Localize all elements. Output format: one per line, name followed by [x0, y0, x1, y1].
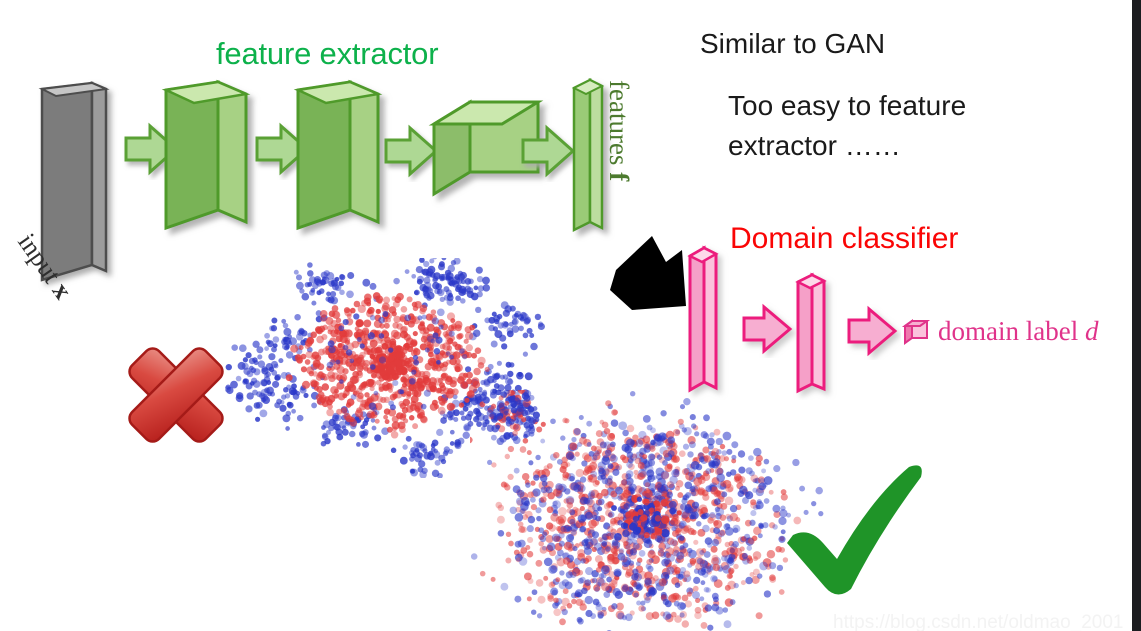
domain-label-symbol: d [1085, 316, 1099, 346]
domain-label-word: domain label [938, 316, 1078, 346]
green-check-icon [775, 455, 935, 600]
domain-arrow-2-icon [845, 302, 901, 360]
note-too-easy-line2: extractor …… [728, 130, 901, 162]
domain-bar-1 [684, 240, 732, 400]
domain-label-text: domain label d [938, 316, 1098, 347]
right-edge-border [1132, 0, 1141, 631]
domain-arrow-1-icon [740, 300, 796, 358]
domain-classifier-title: Domain classifier [730, 222, 958, 256]
red-cross-icon [108, 330, 244, 460]
note-similar-to-gan: Similar to GAN [700, 28, 885, 60]
features-label-word: features [604, 80, 634, 165]
features-label-symbol: f [604, 172, 634, 181]
domain-label-cube-icon [901, 316, 933, 348]
domain-bar-2 [792, 268, 840, 400]
slide-canvas: feature extractor Similar to GAN Too eas… [0, 0, 1141, 631]
watermark-text: https://blog.csdn.net/oldmao_2001 [833, 612, 1123, 631]
note-too-easy-line1: Too easy to feature [728, 90, 966, 122]
feature-extractor-title: feature extractor [216, 36, 438, 72]
